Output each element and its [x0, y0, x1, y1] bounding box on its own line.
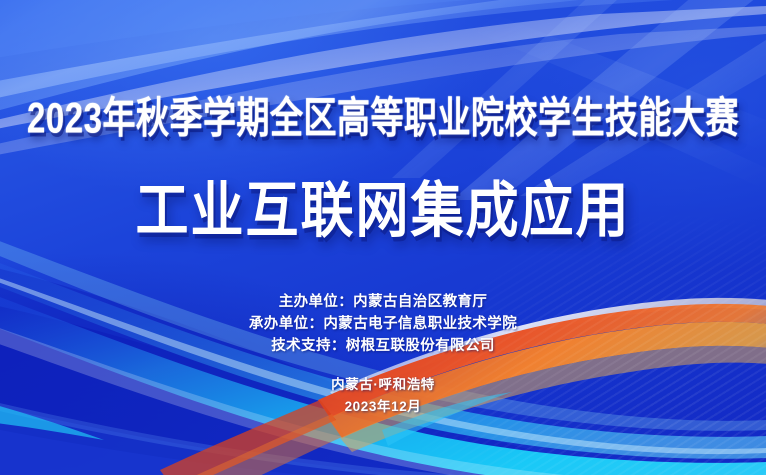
main-title: 工业互联网集成应用 [0, 181, 766, 241]
banner-title: 2023年秋季学期全区高等职业院校学生技能大赛 [0, 96, 766, 139]
organizer-line-host: 主办单位：内蒙古自治区教育厅 [0, 291, 766, 313]
poster-text-content: 2023年秋季学期全区高等职业院校学生技能大赛 工业互联网集成应用 主办单位：内… [0, 0, 766, 475]
organizer-line-tech-support: 技术支持：树根互联股份有限公司 [0, 335, 766, 357]
date-text: 2023年12月 [0, 396, 766, 418]
event-poster: 2023年秋季学期全区高等职业院校学生技能大赛 工业互联网集成应用 主办单位：内… [0, 0, 766, 475]
organizer-line-undertaker: 承办单位：内蒙古电子信息职业技术学院 [0, 313, 766, 335]
place-date-block: 内蒙古·呼和浩特 2023年12月 [0, 374, 766, 418]
location-text: 内蒙古·呼和浩特 [0, 374, 766, 396]
organizer-block: 主办单位：内蒙古自治区教育厅 承办单位：内蒙古电子信息职业技术学院 技术支持：树… [0, 291, 766, 357]
